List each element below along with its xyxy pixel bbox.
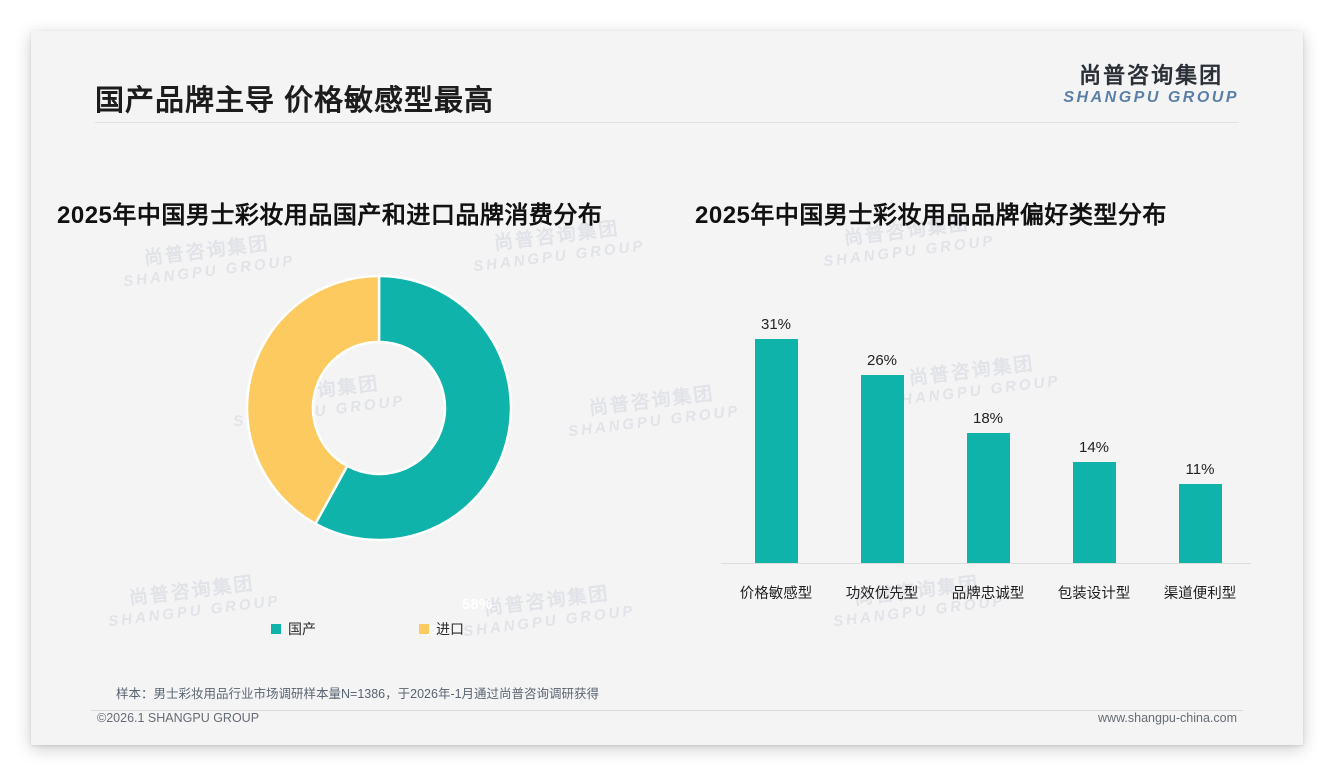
footer-copyright: ©2026.1 SHANGPU GROUP bbox=[97, 711, 259, 725]
brand-logo-en: SHANGPU GROUP bbox=[1063, 88, 1239, 107]
bar-category-label: 品牌忠诚型 bbox=[937, 582, 1039, 603]
brand-logo-cn: 尚普咨询集团 bbox=[1063, 63, 1239, 88]
bar-column[interactable] bbox=[831, 375, 933, 563]
charts-area: 2025年中国男士彩妆用品国产和进口品牌消费分布 58% 42% 国产 进口 2… bbox=[31, 31, 1303, 745]
footer-url[interactable]: www.shangpu-china.com bbox=[1098, 711, 1237, 725]
bar-value-label: 26% bbox=[831, 352, 933, 369]
legend-item-jinkou[interactable]: 进口 bbox=[419, 619, 464, 639]
bar-column[interactable] bbox=[1149, 484, 1251, 563]
bar-category-label: 价格敏感型 bbox=[725, 582, 827, 603]
bar-column[interactable] bbox=[937, 433, 1039, 563]
brand-logo: 尚普咨询集团 SHANGPU GROUP bbox=[1063, 63, 1239, 107]
bar-rect[interactable] bbox=[861, 375, 904, 563]
bar-value-label: 14% bbox=[1043, 439, 1145, 456]
bar-chart-title: 2025年中国男士彩妆用品品牌偏好类型分布 bbox=[695, 195, 1167, 230]
slide-footer: ©2026.1 SHANGPU GROUP www.shangpu-china.… bbox=[31, 711, 1303, 745]
bar-value-label: 11% bbox=[1149, 461, 1251, 478]
slide-header: 国产品牌主导 价格敏感型最高 尚普咨询集团 SHANGPU GROUP bbox=[31, 31, 1303, 123]
bar-rect[interactable] bbox=[967, 433, 1010, 563]
donut-legend: 国产 进口 bbox=[271, 619, 531, 639]
legend-label-guochan: 国产 bbox=[288, 619, 316, 639]
bar-category-label: 功效优先型 bbox=[831, 582, 933, 603]
bar-rect[interactable] bbox=[1179, 484, 1222, 563]
bar-category-label: 渠道便利型 bbox=[1149, 582, 1251, 603]
legend-item-guochan[interactable]: 国产 bbox=[271, 619, 316, 639]
bar-rect[interactable] bbox=[1073, 462, 1116, 563]
sample-note: 样本：男士彩妆用品行业市场调研样本量N=1386，于2026年-1月通过尚普咨询… bbox=[116, 683, 599, 702]
donut-chart: 58% 42% bbox=[217, 246, 541, 570]
donut-chart-title: 2025年中国男士彩妆用品国产和进口品牌消费分布 bbox=[57, 195, 602, 230]
bar-column[interactable] bbox=[725, 339, 827, 563]
bar-column[interactable] bbox=[1043, 462, 1145, 563]
bar-value-label: 18% bbox=[937, 410, 1039, 427]
bar-value-label: 31% bbox=[725, 316, 827, 333]
legend-label-jinkou: 进口 bbox=[436, 619, 464, 639]
donut-slice-label-guochan: 58% bbox=[462, 596, 492, 613]
legend-swatch-yellow bbox=[419, 624, 429, 634]
bar-category-label: 包装设计型 bbox=[1043, 582, 1145, 603]
bar-chart-baseline bbox=[721, 563, 1251, 564]
slide-card: 尚普咨询集团 SHANGPU GROUP 尚普咨询集团 SHANGPU GROU… bbox=[31, 31, 1303, 745]
bar-rect[interactable] bbox=[755, 339, 798, 563]
bar-chart: 31%价格敏感型26%功效优先型18%品牌忠诚型14%包装设计型11%渠道便利型 bbox=[721, 311, 1251, 611]
donut-chart-svg bbox=[217, 246, 541, 570]
legend-swatch-teal bbox=[271, 624, 281, 634]
page-title: 国产品牌主导 价格敏感型最高 bbox=[95, 77, 494, 119]
